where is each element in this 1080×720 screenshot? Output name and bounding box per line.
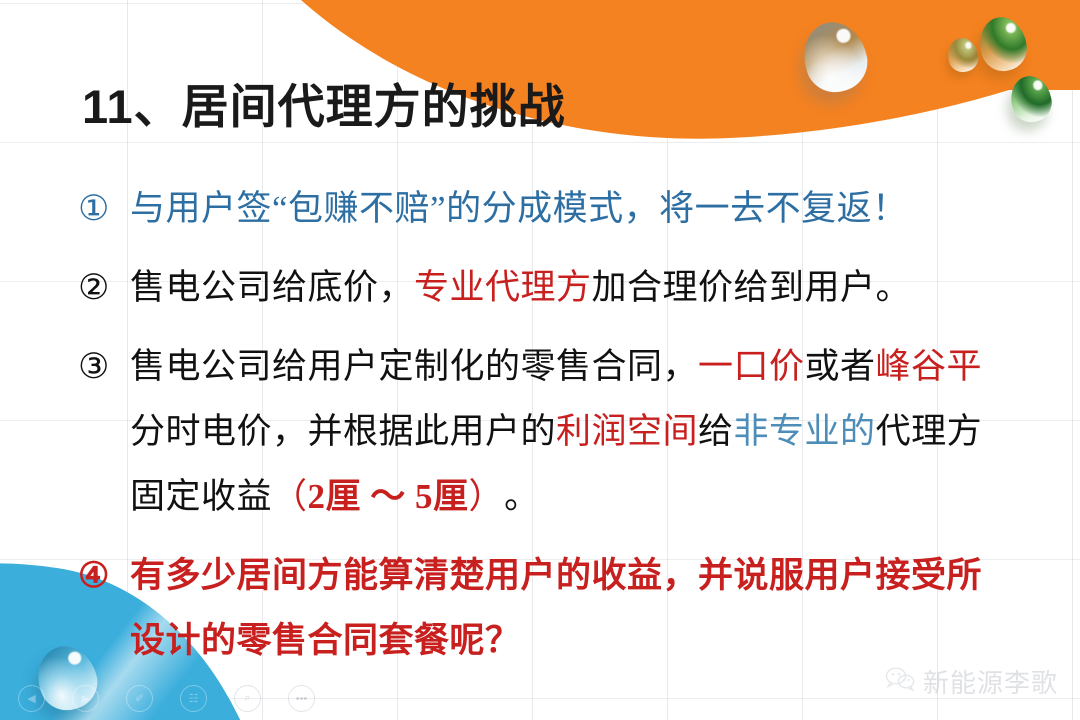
text-run: 或者 — [805, 334, 876, 399]
page-title: 11、居间代理方的挑战 — [82, 68, 566, 137]
text-run: 设计的零售合同套餐呢？ — [130, 608, 521, 673]
text-run: 分时电价，并根据此用户的 — [130, 399, 556, 464]
grid-view-button[interactable]: ☷ — [180, 685, 207, 712]
text-run: 利润空间 — [556, 399, 698, 464]
previous-slide-button[interactable]: ◀ — [18, 685, 45, 712]
text-run: 峰谷平 — [876, 334, 983, 399]
text-run: 给 — [698, 399, 734, 464]
text-run: 一口价 — [698, 334, 805, 399]
text-run: 固定收益 — [130, 464, 272, 529]
text-run: 。 — [504, 464, 540, 529]
list-item-marker: ① — [78, 176, 130, 241]
text-run: ） — [469, 464, 505, 529]
text-run: 与用户签“包赚不赔”的分成模式，将一去不复返！ — [130, 176, 908, 241]
text-run: （ — [272, 464, 308, 529]
orange-banner-fill — [720, 0, 1080, 90]
text-run: 加合理价给到用户。 — [592, 255, 912, 320]
list-item-marker: ④ — [78, 543, 130, 608]
text-run: 代理方 — [876, 399, 983, 464]
text-run: 2厘 ～ 5厘 — [308, 464, 469, 529]
list-item: ④有多少居间方能算清楚用户的收益，并说服用户接受所④设计的零售合同套餐呢？ — [78, 543, 1023, 673]
text-run: 专业代理方 — [414, 255, 592, 320]
presentation-slide: 11、居间代理方的挑战 ①与用户签“包赚不赔”的分成模式，将一去不复返！②售电公… — [0, 0, 1080, 720]
text-run: 售电公司给用户定制化的零售合同， — [130, 334, 698, 399]
list-item-line: ④设计的零售合同套餐呢？ — [78, 608, 1023, 673]
list-item-line: ②售电公司给底价，专业代理方加合理价给到用户。 — [78, 255, 1023, 320]
list-item: ①与用户签“包赚不赔”的分成模式，将一去不复返！ — [78, 176, 1023, 241]
more-options-button[interactable]: ••• — [288, 685, 315, 712]
content-list: ①与用户签“包赚不赔”的分成模式，将一去不复返！②售电公司给底价，专业代理方加合… — [78, 176, 1023, 687]
zoom-button[interactable]: ⌕ — [234, 685, 261, 712]
list-item-line: ③固定收益（2厘 ～ 5厘）。 — [78, 464, 1023, 529]
list-item-line: ③分时电价，并根据此用户的利润空间给非专业的代理方 — [78, 399, 1023, 464]
text-run: 有多少居间方能算清楚用户的收益，并说服用户接受所 — [130, 543, 982, 608]
list-item-marker: ② — [78, 255, 130, 320]
list-item-line: ①与用户签“包赚不赔”的分成模式，将一去不复返！ — [78, 176, 1023, 241]
list-item-line: ④有多少居间方能算清楚用户的收益，并说服用户接受所 — [78, 543, 1023, 608]
text-run: 售电公司给底价， — [130, 255, 414, 320]
list-item-line: ③售电公司给用户定制化的零售合同，一口价或者峰谷平 — [78, 334, 1023, 399]
list-item-marker: ③ — [78, 334, 130, 399]
list-item: ②售电公司给底价，专业代理方加合理价给到用户。 — [78, 255, 1023, 320]
slide-toolbar[interactable]: ◀▶✐☷⌕••• — [18, 685, 315, 712]
text-run: 非专业的 — [734, 399, 876, 464]
pen-tool-button[interactable]: ✐ — [126, 685, 153, 712]
next-slide-button[interactable]: ▶ — [72, 685, 99, 712]
list-item: ③售电公司给用户定制化的零售合同，一口价或者峰谷平③分时电价，并根据此用户的利润… — [78, 334, 1023, 529]
